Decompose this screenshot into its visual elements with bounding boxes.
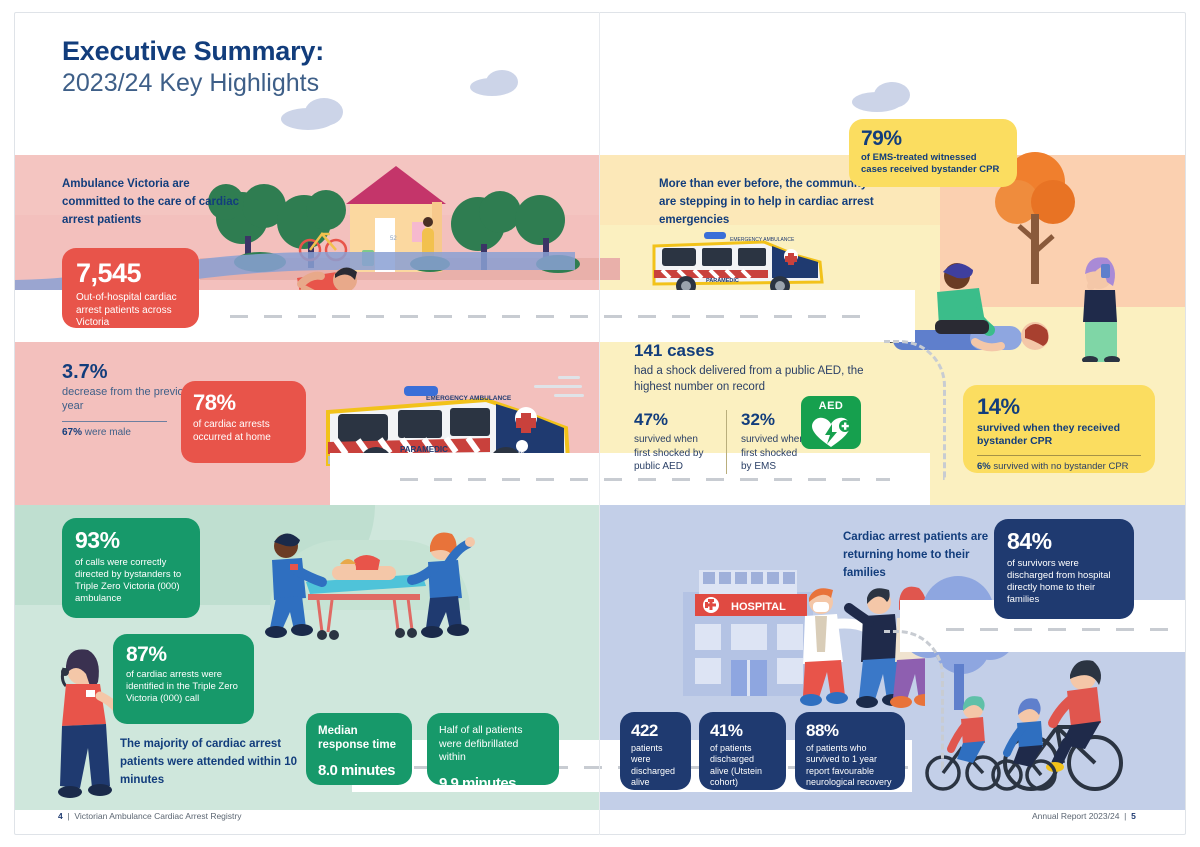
stat-card-discharged-home: 84% of survivors were discharged from ho… — [994, 519, 1134, 619]
aed-icon-label: AED — [801, 400, 861, 412]
stat-value: 41% — [710, 722, 775, 739]
divider — [977, 455, 1141, 456]
stat-value: 93% — [75, 529, 187, 552]
stat-label: survived when they received bystander CP… — [977, 422, 1141, 448]
stat-value: 14% — [977, 396, 1141, 418]
stat-footnote-value: 67% — [62, 427, 82, 438]
stat-value: 32% — [741, 410, 806, 430]
footer-text: Victorian Ambulance Cardiac Arrest Regis… — [74, 811, 241, 821]
stat-label: survived when first shocked by public AE… — [634, 433, 714, 474]
cycling-family-illustration — [925, 645, 1155, 795]
stat-label: survived when first shocked by EMS — [741, 433, 806, 474]
stat-label: patients were discharged alive — [631, 743, 680, 788]
stat-footnote-text: were male — [82, 427, 131, 438]
paramedics-stretcher-illustration — [262, 520, 482, 650]
page-subtitle: 2023/24 Key Highlights — [62, 68, 324, 99]
cloud-icon — [486, 70, 518, 94]
stat-label: of patients who survived to 1 year repor… — [806, 743, 894, 788]
stat-label: of cardiac arrests occurred at home — [193, 419, 294, 444]
stat-footnote-value: 6% — [977, 461, 991, 472]
stat-label: Median response time — [318, 724, 400, 753]
stat-col-public-aed: 47% survived when first shocked by publi… — [634, 410, 714, 474]
stat-label: of cardiac arrests were identified in th… — [126, 669, 241, 705]
svg-text:52: 52 — [390, 236, 397, 242]
stat-footnote-text: survived with no bystander CPR — [991, 461, 1129, 472]
stat-card-identified-in-call: 87% of cardiac arrests were identified i… — [113, 634, 254, 724]
section-heading-blue: Cardiac arrest patients are returning ho… — [843, 529, 1008, 582]
stat-value: 88% — [806, 722, 894, 739]
stat-value: 47% — [634, 410, 714, 430]
footer-divider: | — [65, 811, 74, 821]
cloud-icon — [874, 82, 910, 108]
stat-value: 422 — [631, 722, 680, 739]
stat-card-utstein-cohort: 41% of patients discharged alive (Utstei… — [699, 712, 786, 790]
stat-label: of EMS-treated witnessed cases received … — [861, 152, 1005, 176]
ambulance-main-label: EMERGENCY AMBULANCE — [426, 395, 512, 402]
stat-value: 79% — [861, 128, 1005, 149]
aed-heart-bolt-icon — [801, 413, 861, 449]
section-heading-yellow: More than ever before, the community are… — [659, 176, 879, 229]
stat-label: of calls were correctly directed by byst… — [75, 557, 187, 605]
divider — [62, 421, 167, 422]
road-dash-line — [230, 315, 870, 318]
stat-col-ems: 32% survived when first shocked by EMS — [726, 410, 806, 474]
stat-card-bystander-cpr: 79% of EMS-treated witnessed cases recei… — [849, 119, 1017, 187]
stat-card-median-response-time: Median response time 8.0 minutes — [306, 713, 412, 785]
page-title-block: Executive Summary: 2023/24 Key Highlight… — [62, 36, 324, 99]
stat-card-calls-directed: 93% of calls were correctly directed by … — [62, 518, 200, 618]
stat-value: 87% — [126, 644, 241, 665]
stat-label: had a shock delivered from a public AED,… — [634, 364, 894, 395]
stat-label: of survivors were discharged from hospit… — [1007, 558, 1121, 606]
stat-value: 7,545 — [76, 260, 185, 287]
footer-text: Annual Report 2023/24 — [1032, 811, 1119, 821]
ambulance-top-label: EMERGENCY AMBULANCE — [730, 237, 795, 243]
footer-page-number: 5 — [1131, 811, 1136, 821]
footer-right: Annual Report 2023/24 | 5 — [1032, 811, 1136, 821]
section-heading-pink: Ambulance Victoria are committed to the … — [62, 176, 242, 229]
footer-left: 4 | Victorian Ambulance Cardiac Arrest R… — [58, 811, 242, 821]
road-dash-line — [946, 628, 1176, 631]
stat-footnote: 6% survived with no bystander CPR — [977, 461, 1141, 472]
footer-divider: | — [1122, 811, 1131, 821]
stat-value: 9.9 minutes — [439, 776, 547, 791]
section-heading-mint: The majority of cardiac arrest patients … — [120, 736, 320, 789]
hospital-sign-label: HOSPITAL — [731, 601, 786, 613]
speed-lines-icon — [528, 374, 588, 400]
aed-icon: AED — [801, 396, 861, 449]
stat-value: 8.0 minutes — [318, 763, 400, 778]
stat-value: 3.7% — [62, 362, 212, 382]
stat-card-survived-bystander-cpr: 14% survived when they received bystande… — [963, 385, 1155, 473]
stat-label: Half of all patients were defibrillated … — [439, 724, 547, 765]
stat-card-one-year-recovery: 88% of patients who survived to 1 year r… — [795, 712, 905, 790]
page-title: Executive Summary: — [62, 36, 324, 68]
page-spine — [599, 12, 600, 835]
footer-page-number: 4 — [58, 811, 63, 821]
stat-card-discharged-alive: 422 patients were discharged alive — [620, 712, 691, 790]
stat-value: 84% — [1007, 530, 1121, 553]
stat-label: of patients discharged alive (Utstein co… — [710, 743, 775, 788]
svg-text:PARAMEDIC: PARAMEDIC — [706, 278, 739, 284]
stat-card-ohca-total: 7,545 Out-of-hospital cardiac arrest pat… — [62, 248, 199, 328]
stat-label: Out-of-hospital cardiac arrest patients … — [76, 292, 185, 330]
infographic-page: 52 — [0, 0, 1200, 847]
stat-value: 141 cases — [634, 341, 894, 361]
cloud-icon — [305, 98, 343, 126]
stat-value: 78% — [193, 392, 294, 414]
stat-card-defibrillated-within: Half of all patients were defibrillated … — [427, 713, 559, 785]
stat-card-arrests-at-home: 78% of cardiac arrests occurred at home — [181, 381, 306, 463]
road-dash-line — [400, 478, 890, 481]
